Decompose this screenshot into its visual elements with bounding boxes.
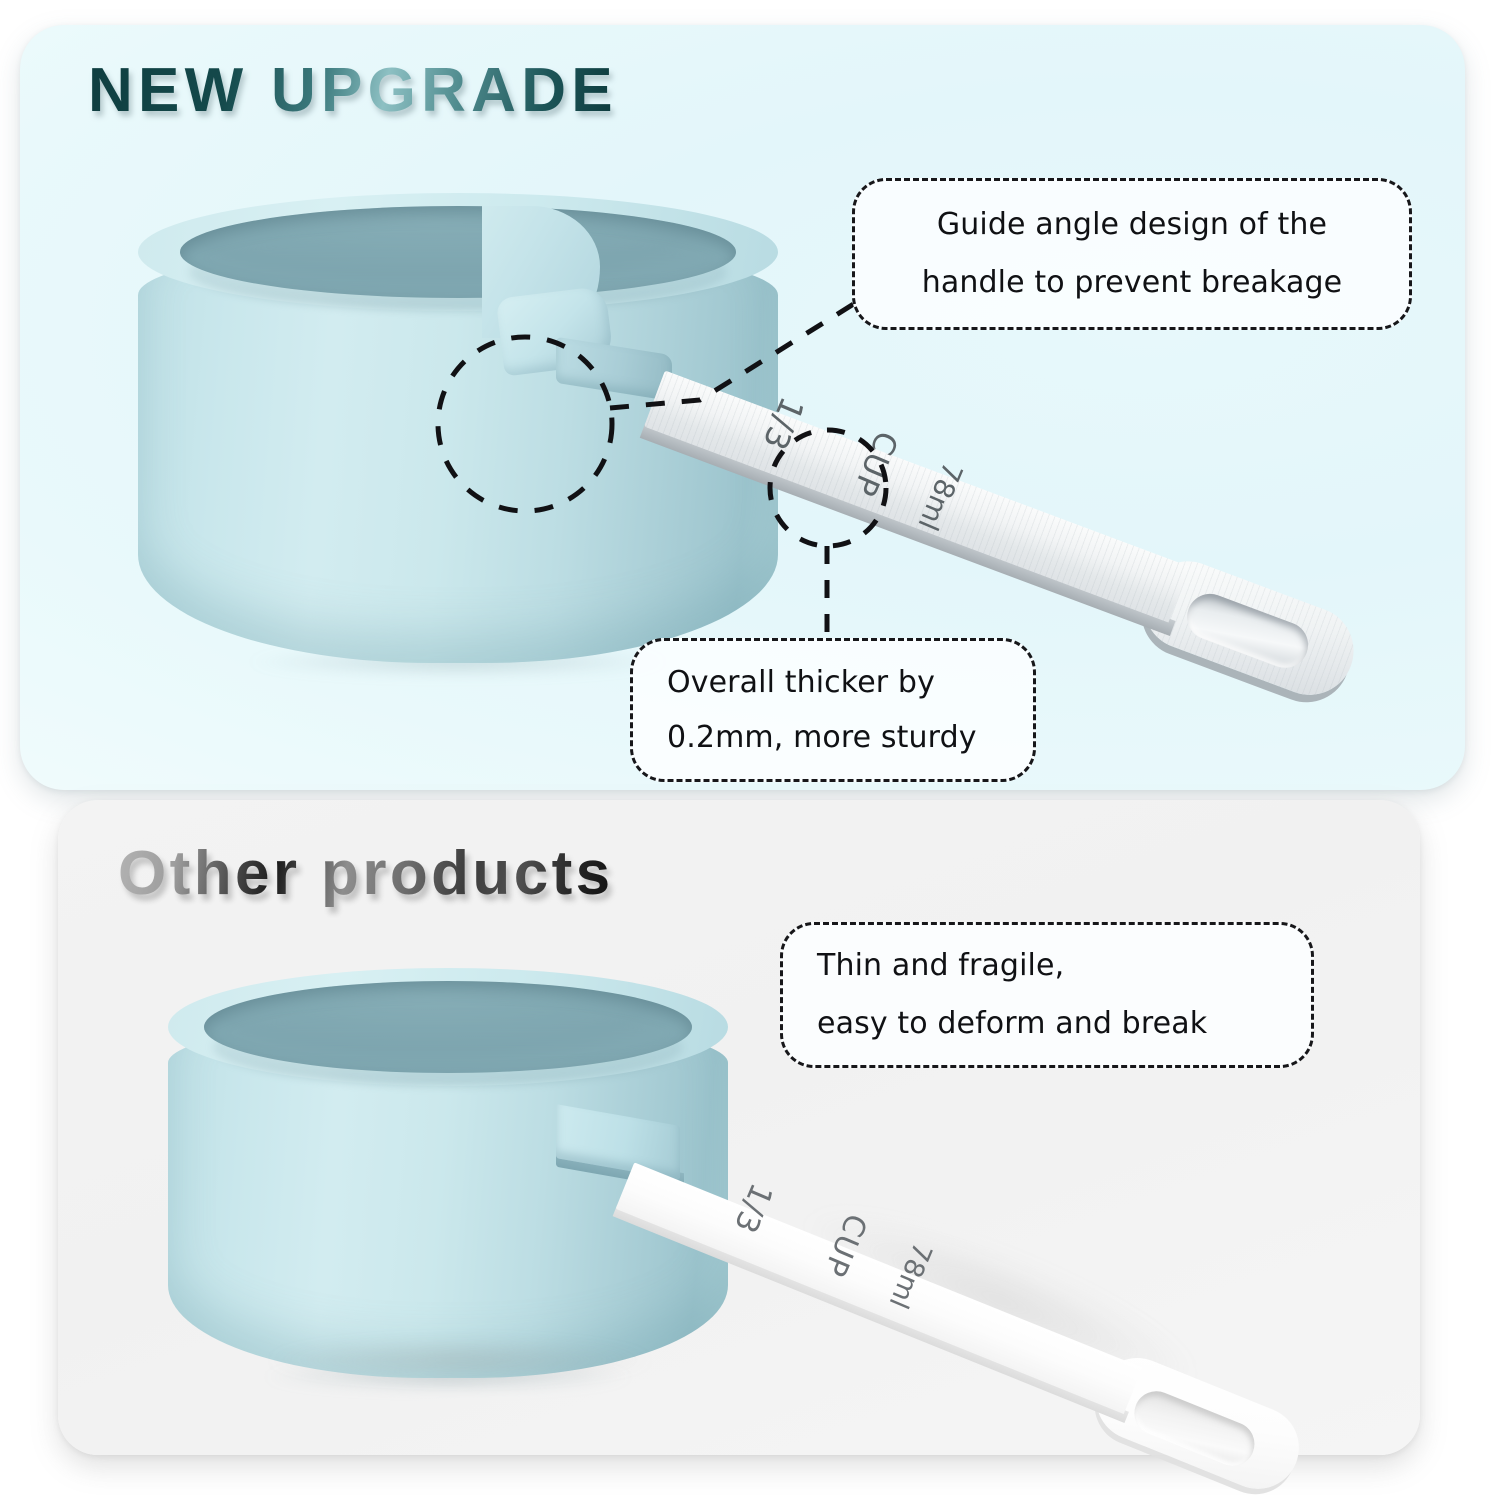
callout-line-2: handle to prevent breakage	[877, 254, 1387, 313]
callout-thin-fragile: Thin and fragile, easy to deform and bre…	[780, 922, 1314, 1068]
callout-line-1: Guide angle design of the	[877, 196, 1387, 255]
callout-line-2: 0.2mm, more sturdy	[667, 710, 999, 766]
page-title-other-products: Other products	[118, 838, 614, 909]
comparison-infographic: 1/3 CUP 78ml 1/3 CUP 78ml NEW UPGRADE Ot…	[0, 0, 1498, 1500]
callout-thickness: Overall thicker by 0.2mm, more sturdy	[630, 638, 1036, 782]
callout-line-1: Thin and fragile,	[817, 937, 1277, 996]
cup-interior-shading	[213, 1008, 683, 1086]
callout-guide-angle: Guide angle design of the handle to prev…	[852, 178, 1412, 330]
cup-shadow-other	[190, 1330, 730, 1390]
callout-line-1: Overall thicker by	[667, 655, 999, 711]
cup-interior-shading	[189, 233, 727, 311]
page-title-new-upgrade: NEW UPGRADE	[88, 55, 618, 126]
callout-line-2: easy to deform and break	[817, 995, 1277, 1054]
